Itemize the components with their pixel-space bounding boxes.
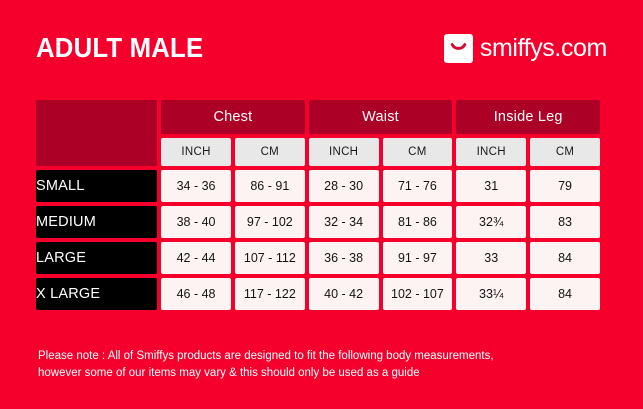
footnote: Please note : All of Smiffys products ar…	[38, 348, 608, 381]
smile-logo-icon	[444, 34, 473, 63]
cell-small-waist-inch: 28 - 30	[309, 170, 379, 202]
cell-small-chest-cm: 86 - 91	[235, 170, 305, 202]
cell-large-inside-leg-inch: 33	[456, 242, 526, 274]
cell-small-inside-leg-cm: 79	[530, 170, 600, 202]
size-label-medium: MEDIUM	[36, 206, 157, 238]
cell-x-large-chest-cm: 117 - 122	[235, 278, 305, 310]
cell-medium-chest-cm: 97 - 102	[235, 206, 305, 238]
cell-x-large-waist-cm: 102 - 107	[383, 278, 453, 310]
cell-large-inside-leg-cm: 84	[530, 242, 600, 274]
cell-medium-chest-inch: 38 - 40	[161, 206, 231, 238]
footnote-line-2: however some of our items may vary & thi…	[38, 365, 608, 382]
cell-medium-inside-leg-inch: 32¾	[456, 206, 526, 238]
table-row: MEDIUM 38 - 40 97 - 102 32 - 34 81 - 86 …	[36, 206, 600, 238]
group-header-row: Chest Waist Inside Leg	[36, 100, 600, 134]
size-table: Chest Waist Inside Leg INCH CM INCH CM I…	[32, 96, 604, 314]
cell-small-chest-inch: 34 - 36	[161, 170, 231, 202]
cell-x-large-inside-leg-inch: 33¼	[456, 278, 526, 310]
cell-medium-inside-leg-cm: 83	[530, 206, 600, 238]
cell-small-inside-leg-inch: 31	[456, 170, 526, 202]
cell-x-large-waist-inch: 40 - 42	[309, 278, 379, 310]
cell-large-waist-inch: 36 - 38	[309, 242, 379, 274]
footnote-line-1: Please note : All of Smiffys products ar…	[38, 348, 608, 365]
table-row: LARGE 42 - 44 107 - 112 36 - 38 91 - 97 …	[36, 242, 600, 274]
page-header: ADULT MALE smiffys.com	[0, 0, 643, 96]
cell-medium-waist-cm: 81 - 86	[383, 206, 453, 238]
brand-logo: smiffys.com	[444, 34, 607, 63]
table-row: X LARGE 46 - 48 117 - 122 40 - 42 102 - …	[36, 278, 600, 310]
unit-header-chest-inch: INCH	[161, 138, 231, 166]
group-header-waist: Waist	[309, 100, 453, 134]
unit-header-chest-cm: CM	[235, 138, 305, 166]
cell-x-large-inside-leg-cm: 84	[530, 278, 600, 310]
group-header-chest: Chest	[161, 100, 305, 134]
table-row: SMALL 34 - 36 86 - 91 28 - 30 71 - 76 31…	[36, 170, 600, 202]
cell-x-large-chest-inch: 46 - 48	[161, 278, 231, 310]
size-label-x-large: X LARGE	[36, 278, 157, 310]
page-title: ADULT MALE	[36, 34, 203, 62]
cell-large-chest-cm: 107 - 112	[235, 242, 305, 274]
unit-header-waist-cm: CM	[383, 138, 453, 166]
cell-small-waist-cm: 71 - 76	[383, 170, 453, 202]
cell-medium-waist-inch: 32 - 34	[309, 206, 379, 238]
size-chart-page: ADULT MALE smiffys.com Chest Wa	[0, 0, 643, 409]
unit-header-waist-inch: INCH	[309, 138, 379, 166]
cell-large-waist-cm: 91 - 97	[383, 242, 453, 274]
cell-large-chest-inch: 42 - 44	[161, 242, 231, 274]
size-table-container: Chest Waist Inside Leg INCH CM INCH CM I…	[36, 100, 608, 310]
brand-name: smiffys.com	[480, 36, 607, 61]
size-label-small: SMALL	[36, 170, 157, 202]
size-label-large: LARGE	[36, 242, 157, 274]
table-corner-cell	[36, 100, 157, 166]
group-header-inside-leg: Inside Leg	[456, 100, 600, 134]
unit-header-inside-leg-inch: INCH	[456, 138, 526, 166]
unit-header-inside-leg-cm: CM	[530, 138, 600, 166]
